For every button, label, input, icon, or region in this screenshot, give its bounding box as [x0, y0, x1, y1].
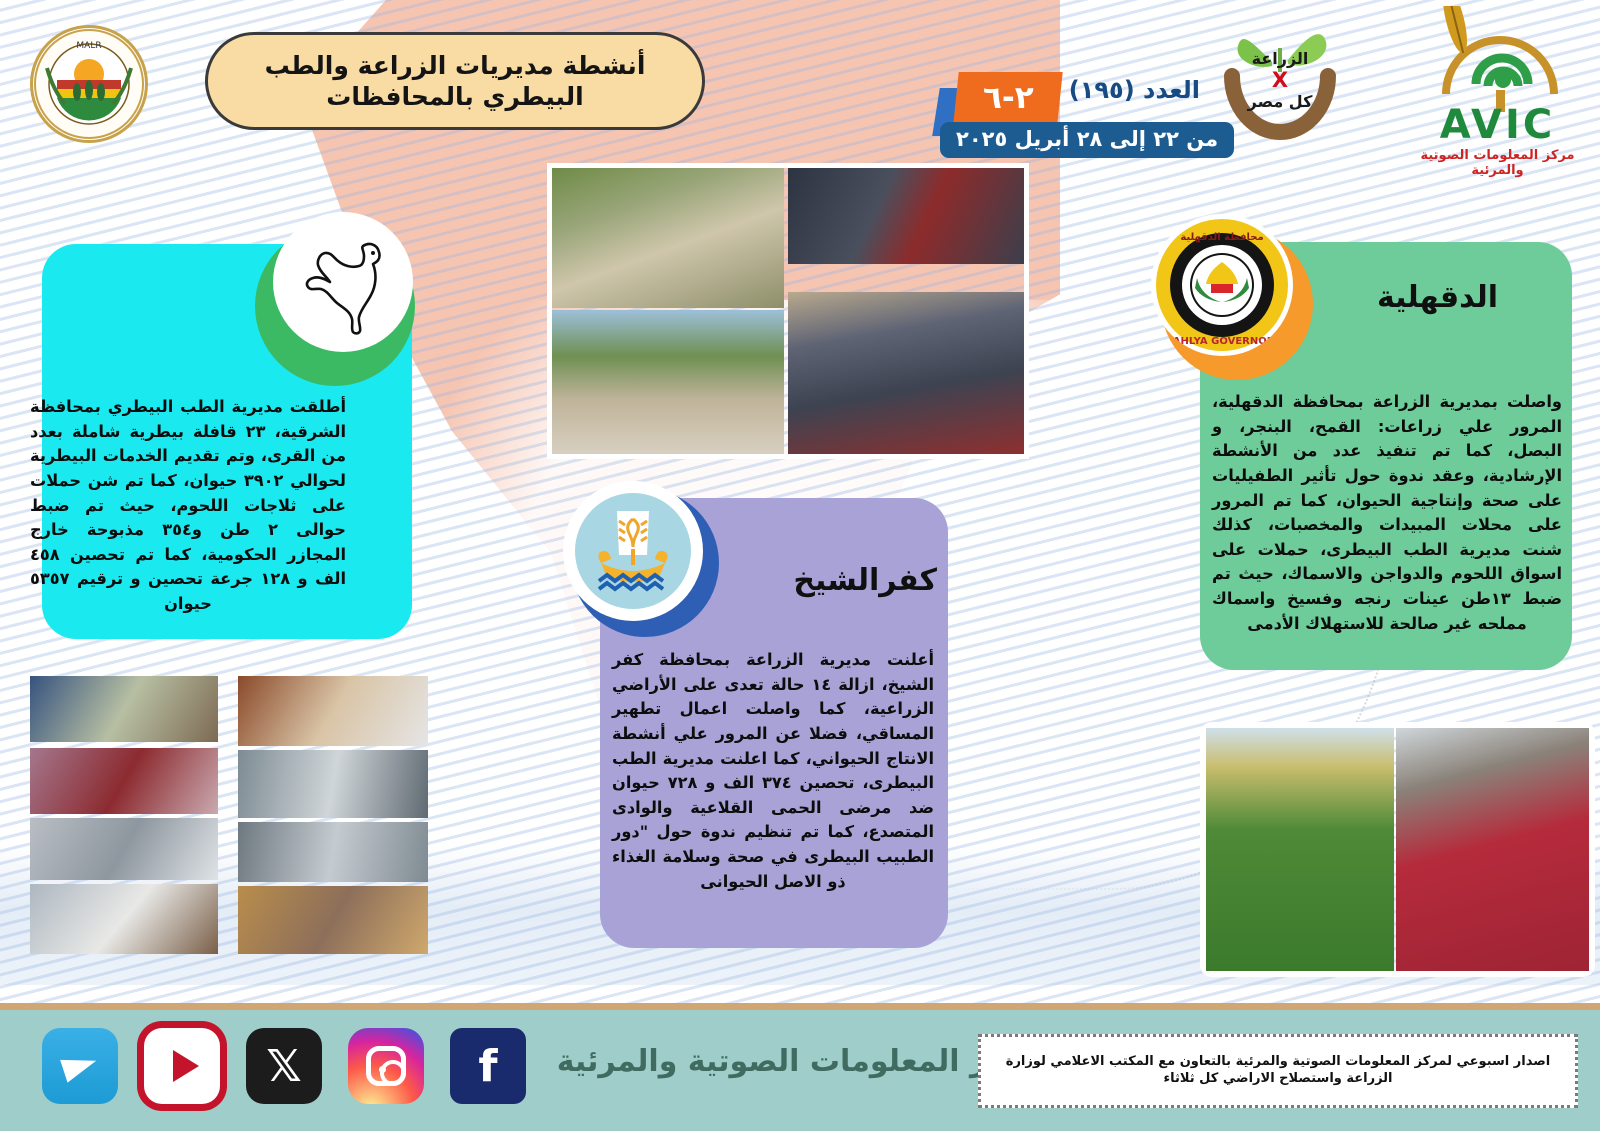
- date-range-banner: من ٢٢ إلى ٢٨ أبريل ٢٠٢٥: [940, 122, 1234, 158]
- photo-strawberry-field-visit: [1206, 728, 1394, 971]
- issue-number: العدد (١٩٥): [1069, 76, 1200, 104]
- kafr-elsheikh-photo-collage: [1206, 728, 1589, 971]
- photo-audience-salute: [788, 292, 1024, 454]
- malr-ministry-logo: MALR: [30, 25, 148, 143]
- photo-frozen-fish-trays: [238, 750, 428, 818]
- infographic-page: MALR أنشطة مديريات الزراعة والطب البيطري…: [0, 0, 1600, 1131]
- card-dakahlia-body: واصلت بمديرية الزراعة بمحافظة الدقهلية، …: [1212, 390, 1562, 636]
- issue-info-group: ٢-٦ العدد (١٩٥) من ٢٢ إلى ٢٨ أبريل ٢٠٢٥: [930, 62, 1200, 162]
- card-kafr-elsheikh-title: كفرالشيخ: [793, 563, 937, 598]
- photo-meat-transport: [30, 748, 218, 814]
- issue-badge: ٢-٦: [953, 72, 1062, 124]
- issue-badge-text: ٢-٦: [983, 80, 1034, 116]
- page-title: أنشطة مديريات الزراعة والطب البيطري بالم…: [205, 32, 705, 130]
- photo-canal-waterway: [552, 310, 784, 454]
- photo-seized-fish-2: [238, 822, 428, 882]
- zeraa-kol-masr-logo: الزراعة X كل مصر: [1200, 14, 1360, 169]
- photo-market-inspection-1: [30, 676, 218, 742]
- photo-award-ceremony: [788, 168, 1024, 264]
- photo-seized-fish-1: [30, 818, 218, 880]
- photo-market-crowd: [238, 886, 428, 954]
- boat-wheat-emblem-icon: [563, 481, 703, 621]
- svg-text:MALR: MALR: [76, 41, 101, 51]
- photo-butcher-shop: [238, 676, 428, 746]
- dakahlya-governorate-seal-icon: محافظة الدقهلية DAKAHLYA GOVERNORATE: [1151, 214, 1293, 356]
- photo-field-debris: [552, 168, 784, 308]
- page-title-text: أنشطة مديريات الزراعة والطب البيطري بالم…: [208, 50, 702, 113]
- footer: f 𝕏 مركز المعلومات الصوتية والمرئية اصدا…: [0, 1003, 1600, 1131]
- card-sharqia-body: أطلقت مديرية الطب البيطري بمحافظة الشرقي…: [30, 395, 346, 617]
- footer-note-text: اصدار اسبوعي لمركز المعلومات الصوتية وال…: [981, 1054, 1575, 1088]
- card-kafr-elsheikh-body: أعلنت مديرية الزراعة بمحافظة كفر الشيخ، …: [612, 648, 934, 894]
- zeraa-line3: كل مصر: [1200, 93, 1360, 111]
- zeraa-logo-text: الزراعة X كل مصر: [1200, 50, 1360, 111]
- footer-note-box: اصدار اسبوعي لمركز المعلومات الصوتية وال…: [978, 1034, 1578, 1108]
- horse-icon: [273, 212, 413, 352]
- photo-inspector-weighing: [30, 884, 218, 954]
- card-dakahlia-title: الدقهلية: [1377, 280, 1498, 315]
- avic-subtitle: مركز المعلومات الصوتية والمرئية: [1400, 148, 1595, 178]
- dakahlia-photo-collage: [552, 168, 1024, 454]
- avic-wordmark: AVIC: [1400, 102, 1595, 148]
- zeraa-x: X: [1200, 68, 1360, 92]
- photo-vet-examining-bird: [1396, 728, 1589, 971]
- avic-logo: AVIC مركز المعلومات الصوتية والمرئية: [1400, 6, 1595, 176]
- zeraa-line1: الزراعة: [1200, 50, 1360, 68]
- sharqia-photo-collage: [30, 676, 428, 954]
- svg-text:محافظة الدقهلية: محافظة الدقهلية: [1180, 232, 1263, 243]
- header: MALR أنشطة مديريات الزراعة والطب البيطري…: [0, 0, 1600, 178]
